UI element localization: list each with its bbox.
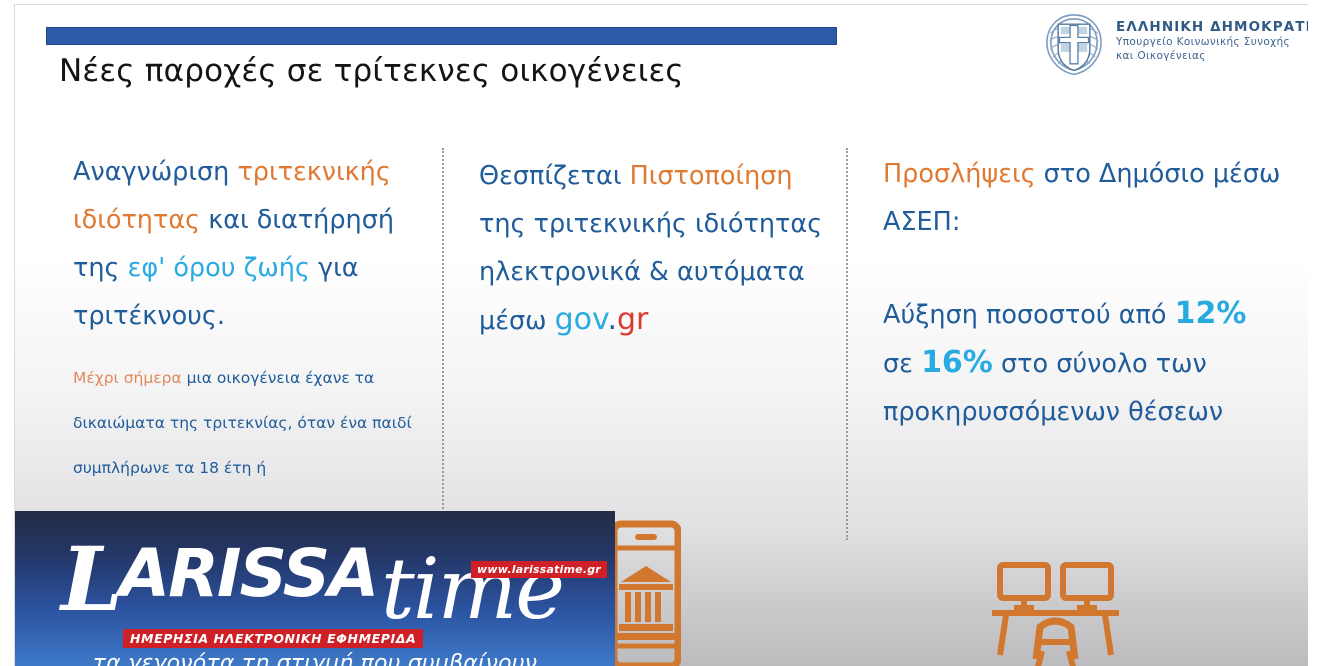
column-certification: Θεσπίζεται Πιστοποίηση της τριτεκνικής ι… [479,152,837,345]
government-logo-text: ΕΛΛΗΝΙΚΗ ΔΗΜΟΚΡΑΤΙΑ Υπουργείο Κοινωνικής… [1116,19,1308,63]
gov-ministry-line-1: Υπουργείο Κοινωνικής Συνοχής [1116,35,1308,49]
government-logo: ΕΛΛΗΝΙΚΗ ΔΗΜΟΚΡΑΤΙΑ Υπουργείο Κοινωνικής… [1028,9,1308,79]
column-1-sub-text: Μέχρι σήμερα μια οικογένεια έχανε τα δικ… [73,356,433,491]
page-title: Νέες παροχές σε τρίτεκνες οικογένειες [59,53,959,89]
workstation-desk-icon [978,555,1133,666]
column-3-lead-text-part1: Προσλήψεις στο Δημόσιο μέσω ΑΣΕΠ: [883,150,1283,246]
c2-seg3: της τριτεκνικής ιδιότητας ηλεκτρονικά & … [479,209,822,336]
larissatime-watermark: L ARISSA time www.larissatime.gr ΗΜΕΡΗΣΙ… [15,511,615,666]
c1-seg4-cyan: εφ' όρου ζωής [128,253,310,283]
c3-p2-seg3: σε [883,349,921,379]
watermark-brand-l: L [61,535,121,623]
c1-sub-seg1-orange: Μέχρι σήμερα [73,369,187,387]
watermark-brand: L ARISSA time www.larissatime.gr ΗΜΕΡΗΣΙ… [15,511,615,631]
c2-govgr-gr: gr [617,302,648,337]
gov-title-line: ΕΛΛΗΝΙΚΗ ΔΗΜΟΚΡΑΤΙΑ [1116,19,1308,35]
c3-percent-from: 12% [1175,296,1247,331]
column-2-lead-text: Θεσπίζεται Πιστοποίηση της τριτεκνικής ι… [479,152,837,345]
column-3-spacer [883,246,1283,290]
column-3-lead-text-part2: Αύξηση ποσοστού από 12% σε 16% στο σύνολ… [883,290,1283,436]
column-divider-2 [846,148,848,540]
column-recognition: Αναγνώριση τριτεκνικής ιδιότητας και δια… [73,148,433,491]
c3-percent-to: 16% [921,345,993,380]
c2-govgr-gov: gov [555,302,608,337]
c2-govgr-dot: . [607,302,617,337]
c2-seg2-orange: Πιστοποίηση [630,161,793,191]
watermark-url-badge: www.larissatime.gr [471,561,607,578]
c3-p2-seg1: Αύξηση ποσοστού από [883,300,1175,330]
c3-seg1-orange: Προσλήψεις [883,159,1036,189]
c2-seg1: Θεσπίζεται [479,161,630,191]
title-accent-bar [46,27,837,45]
slide-canvas: Νέες παροχές σε τρίτεκνες οικογένειες ΕΛ… [14,4,1308,666]
smartphone-government-icon [611,520,681,666]
gov-ministry-line-2: και Οικογένειας [1116,49,1308,63]
column-public-hiring: Προσλήψεις στο Δημόσιο μέσω ΑΣΕΠ: Αύξηση… [883,150,1283,436]
watermark-tagline: τα γεγονότα τη στιγμή που συμβαίνουν [15,651,615,666]
watermark-strapline: ΗΜΕΡΗΣΙΑ ΗΛΕΚΤΡΟΝΙΚΗ ΕΦΗΜΕΡΙΔΑ [123,629,423,648]
column-divider-1 [442,148,444,540]
greek-coat-of-arms-icon [1040,11,1108,77]
watermark-brand-time: time [381,547,563,631]
watermark-brand-arissa: ARISSA [119,541,377,607]
column-1-lead-text: Αναγνώριση τριτεκνικής ιδιότητας και δια… [73,148,433,340]
c1-seg1: Αναγνώριση [73,157,237,187]
